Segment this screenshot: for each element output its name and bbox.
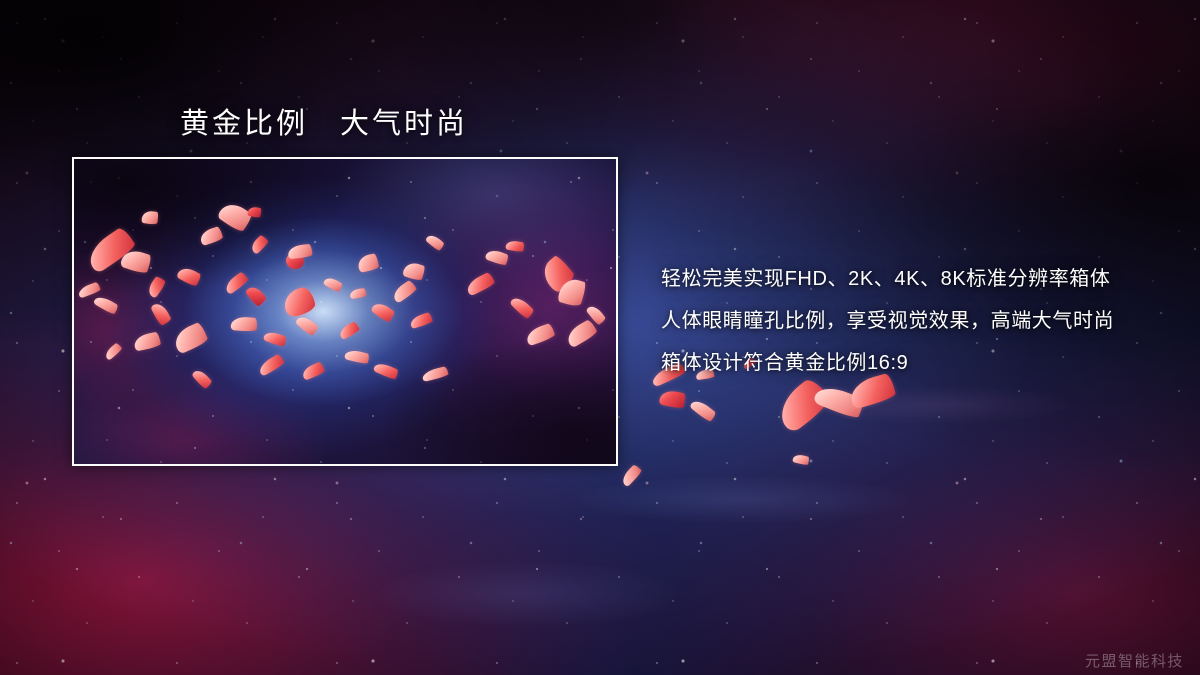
body-line: 人体眼睛瞳孔比例，享受视觉效果，高端大气时尚 bbox=[661, 300, 1161, 342]
slide-canvas: 黄金比例 大气时尚 轻松完美实现FHD、2K、4K、8K标准分辨率箱体 人体眼睛… bbox=[0, 0, 1200, 675]
watermark: 元盟智能科技 bbox=[1085, 650, 1184, 671]
image-frame[interactable] bbox=[72, 157, 618, 466]
image-frame-content bbox=[74, 159, 616, 464]
body-text-block: 轻松完美实现FHD、2K、4K、8K标准分辨率箱体 人体眼睛瞳孔比例，享受视觉效… bbox=[661, 258, 1161, 384]
petal bbox=[231, 316, 258, 332]
page-title: 黄金比例 大气时尚 bbox=[180, 100, 468, 142]
body-line: 轻松完美实现FHD、2K、4K、8K标准分辨率箱体 bbox=[661, 258, 1161, 300]
body-line: 箱体设计符合黄金比例16:9 bbox=[661, 342, 1161, 384]
